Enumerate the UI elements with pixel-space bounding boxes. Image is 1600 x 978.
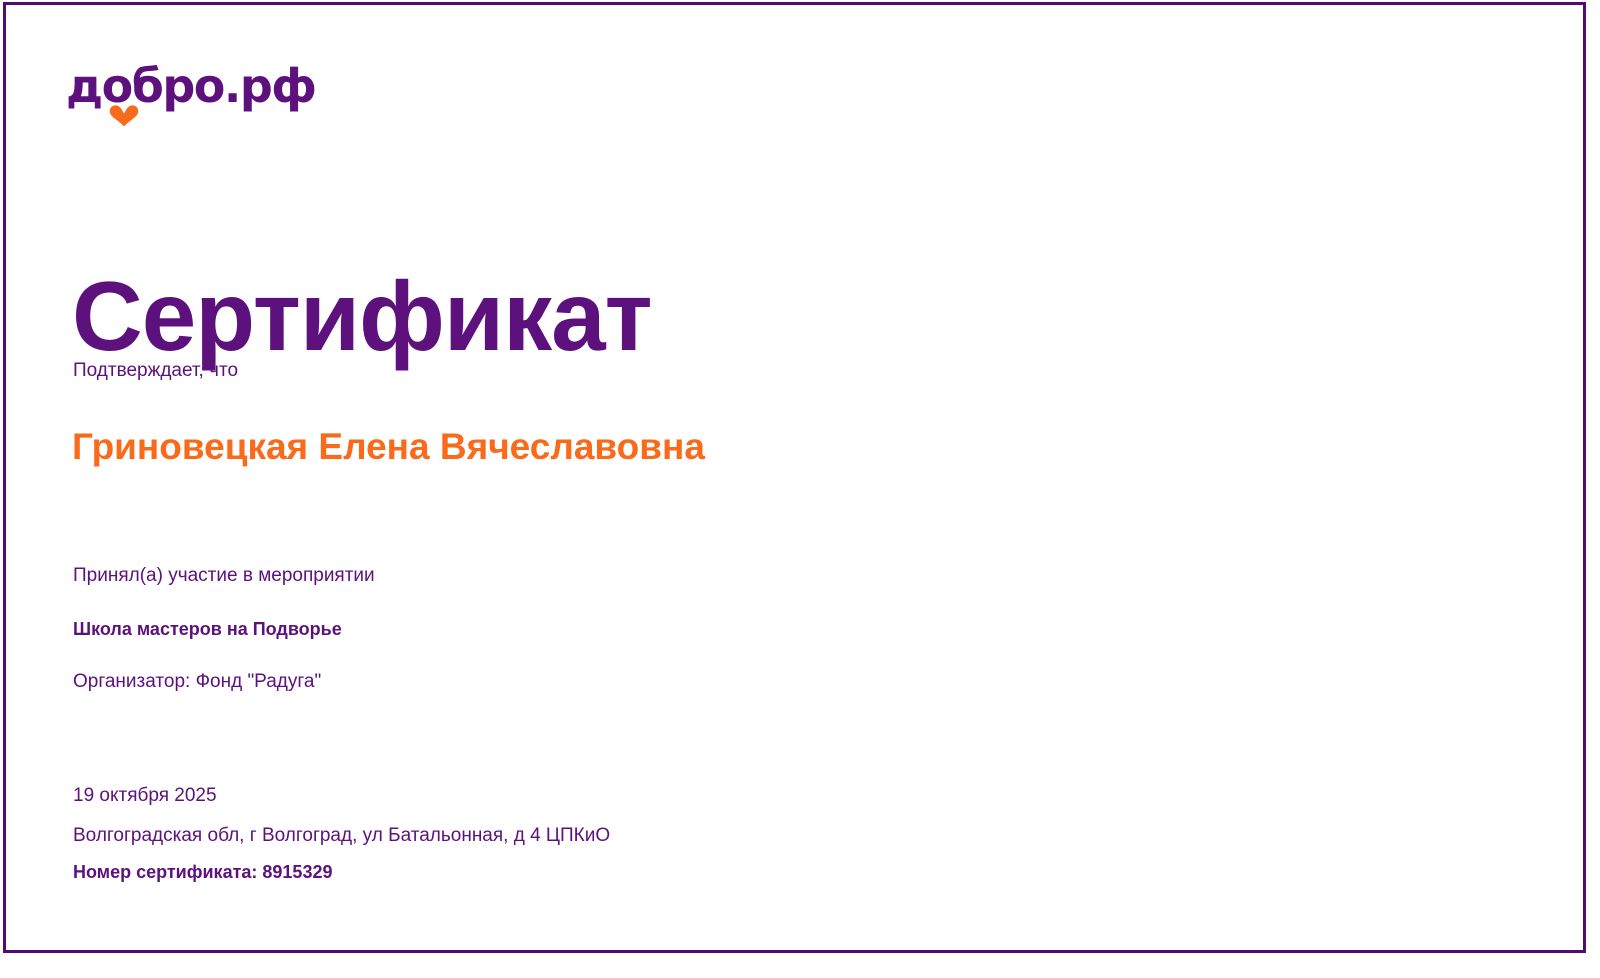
organizer-text: Организатор: Фонд "Радуга": [73, 671, 321, 693]
participation-text: Принял(а) участие в мероприятии: [73, 565, 375, 587]
heart-icon: [109, 103, 139, 127]
event-date: 19 октября 2025: [73, 785, 610, 807]
intro-text: Подтверждает, что: [73, 360, 238, 382]
certificate-footer: 19 октября 2025 Волгоградская обл, г Вол…: [73, 785, 610, 883]
event-name: Школа мастеров на Подворье: [73, 619, 342, 640]
event-address: Волгоградская обл, г Волгоград, ул Батал…: [73, 825, 610, 847]
page-title: Сертификат: [72, 263, 652, 371]
certificate-frame: добро.рф Сертификат Подтверждает, что Гр…: [3, 2, 1586, 953]
recipient-name: Гриновецкая Елена Вячеславовна: [72, 424, 832, 469]
dobro-rf-logo: добро.рф: [66, 63, 366, 127]
certificate-number: Номер сертификата: 8915329: [73, 862, 610, 883]
